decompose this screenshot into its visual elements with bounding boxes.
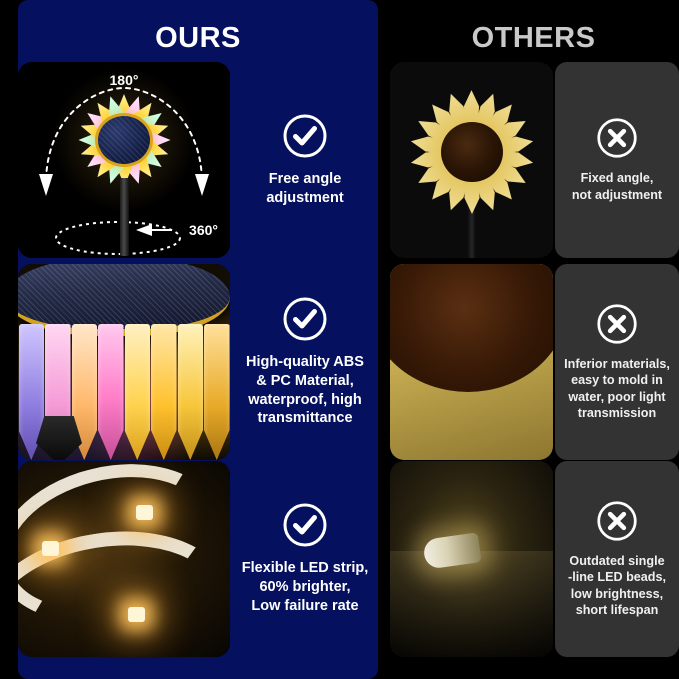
caption-line: & PC Material, [246,372,364,391]
others-image-inferior-material [390,264,553,460]
others-header: OTHERS [388,22,679,55]
ours-caption-card-2: High-quality ABS & PC Material, waterpro… [232,264,378,460]
solar-panel-disc [95,113,153,167]
caption-line: 60% brighter, [242,578,369,597]
caption-line: short lifespan [568,602,666,618]
caption-line: Outdated single [568,553,666,569]
label-180-degrees: 180° [110,72,139,88]
ours-caption-2: High-quality ABS & PC Material, waterpro… [242,353,368,428]
check-icon [282,296,328,342]
others-flower-center [441,122,503,182]
ours-caption-3: Flexible LED strip, 60% brighter, Low fa… [238,559,373,616]
flower-stem [120,178,129,256]
angle-adjustment-scene: 180° 360° [18,62,230,258]
others-caption-card-2: Inferior materials, easy to mold in wate… [555,264,679,460]
caption-line: Flexible LED strip, [242,559,369,578]
caption-line: transmittance [246,409,364,428]
caption-line: not adjustment [572,187,662,203]
caption-line: -line LED beads, [568,569,666,585]
comparison-infographic: OURS OTHERS [0,0,679,679]
caption-line: low brightness, [568,586,666,602]
others-caption-card-3: Outdated single -line LED beads, low bri… [555,461,679,657]
others-sunflower-scene [390,62,553,258]
ours-caption-card-1: Free angle adjustment [232,62,378,258]
ours-header: OURS [18,22,378,55]
caption-line: waterproof, high [246,391,364,410]
caption-line: High-quality ABS [246,353,364,372]
others-wet-bulb-scene [390,461,553,657]
comparison-row-2: High-quality ABS & PC Material, waterpro… [0,264,679,460]
cross-icon [596,500,638,542]
wet-surface [390,551,553,657]
caption-line: transmission [564,405,670,421]
caption-line: Free angle [266,170,343,189]
led-light [136,505,153,520]
ours-caption-card-3: Flexible LED strip, 60% brighter, Low fa… [232,461,378,657]
check-icon [282,502,328,548]
caption-line: water, poor light [564,389,670,405]
cross-icon [596,117,638,159]
others-caption-card-1: Fixed angle, not adjustment [555,62,679,258]
others-caption-3: Outdated single -line LED beads, low bri… [564,553,670,618]
others-sunflower-head [409,89,535,215]
label-360-degrees: 360° [189,222,218,238]
cross-icon [596,303,638,345]
others-flower-center-closeup [390,264,553,392]
ours-caption-1: Free angle adjustment [262,170,347,208]
others-petal-closeup-scene [390,264,553,460]
caption-line: Fixed angle, [572,170,662,186]
others-image-fixed-angle [390,62,553,258]
led-light [42,541,59,556]
others-image-wet-led-bulb [390,461,553,657]
ours-image-material-closeup [18,264,230,460]
led-strip-scene [18,461,230,657]
others-caption-1: Fixed angle, not adjustment [568,170,666,203]
material-closeup-scene [18,264,230,460]
ours-sunflower-head [78,94,170,186]
caption-line: Low failure rate [242,597,369,616]
check-icon [282,113,328,159]
ours-image-angle-adjustment: 180° 360° [18,62,230,258]
comparison-row-3: Flexible LED strip, 60% brighter, Low fa… [0,461,679,657]
caption-line: adjustment [266,189,343,208]
comparison-row-1: 180° 360° Free angle adjustment [0,62,679,258]
caption-line: Inferior materials, [564,356,670,372]
caption-line: easy to mold in [564,372,670,388]
ours-image-led-strip [18,461,230,657]
others-caption-2: Inferior materials, easy to mold in wate… [560,356,674,421]
led-light [128,607,145,622]
